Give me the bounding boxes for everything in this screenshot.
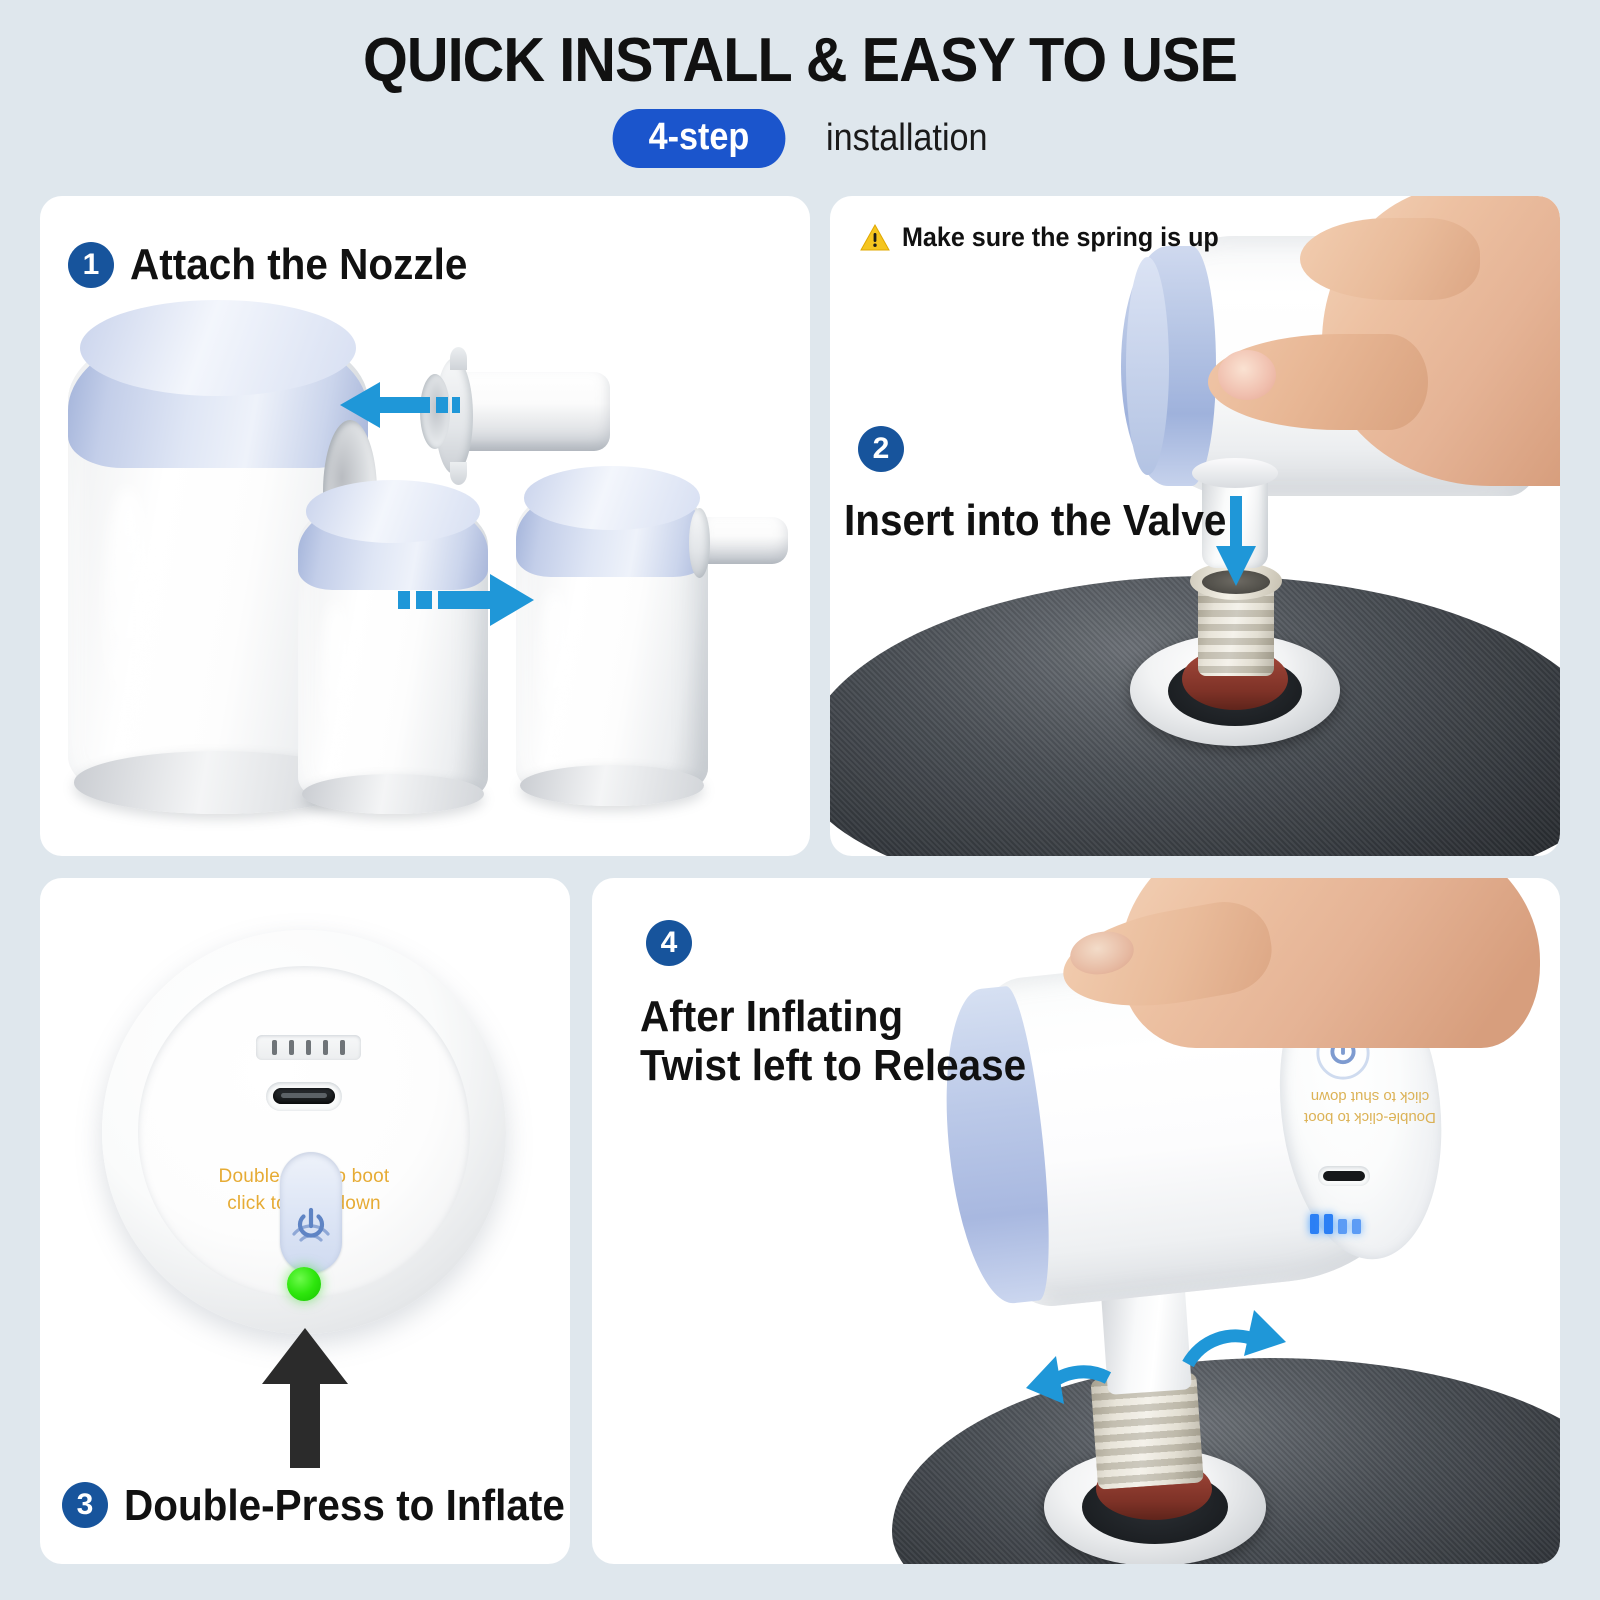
step-3-title: Double-Press to Inflate	[124, 1481, 565, 1530]
power-button[interactable]	[280, 1152, 343, 1273]
infographic-page: QUICK INSTALL & EASY TO USE 4-step insta…	[0, 0, 1600, 1600]
step-panel-1: 1 Attach the Nozzle	[40, 196, 810, 856]
step-panel-4: Double-click to boot click to shut down	[592, 878, 1560, 1564]
blue-led	[1310, 1214, 1319, 1234]
arrow-left-icon	[340, 382, 460, 428]
blue-battery-leds	[1310, 1214, 1361, 1234]
pump-bottom-view: Double-click to boot click to shut down	[102, 930, 506, 1334]
thumb-nail	[1218, 350, 1276, 400]
step-1-heading: 1 Attach the Nozzle	[68, 240, 497, 289]
assembled-pump-cap-top	[306, 480, 481, 542]
held-pump-cap-edge	[1126, 257, 1169, 475]
mounted-nozzle	[680, 512, 788, 574]
steps-grid: 1 Attach the Nozzle	[40, 196, 1560, 1564]
mounted-nozzle-flange	[689, 508, 711, 577]
step-2-badge: 2	[858, 426, 904, 472]
assembled-base	[520, 765, 704, 806]
held-pump-nozzle-flange	[1192, 458, 1278, 488]
battery-bar	[306, 1040, 311, 1055]
step-panel-3: Double-click to boot click to shut down	[40, 878, 570, 1564]
assembled-highlight	[539, 590, 570, 768]
subtitle-label: installation	[826, 117, 988, 160]
subtitle-row: 4-step installation	[0, 109, 1600, 168]
usb-c-opening	[1323, 1171, 1365, 1181]
rotation-arrow-left-icon	[1012, 1348, 1122, 1458]
step-4-scene: Double-click to boot click to shut down	[592, 878, 1560, 1564]
blue-led	[1352, 1219, 1361, 1234]
warning-triangle-icon	[860, 224, 890, 251]
battery-indicator	[256, 1035, 361, 1060]
arrow-right-icon	[398, 574, 534, 626]
blue-led	[1338, 1219, 1347, 1234]
rotation-arrow-right-icon	[1174, 1306, 1294, 1416]
step-2-title: Insert into the Valve	[844, 496, 1226, 545]
nozzle-tab-bottom	[450, 462, 467, 485]
black-arrow-up-icon	[262, 1328, 348, 1468]
step-2-scene: Make sure the spring is up 2 Insert into…	[830, 196, 1560, 856]
blue-led	[1324, 1214, 1333, 1234]
assembled-pump-highlight	[321, 602, 351, 777]
step-1-badge: 1	[68, 242, 114, 288]
nozzle-tab-top	[450, 347, 467, 370]
usb-c-port	[266, 1082, 343, 1111]
usb-c-port	[1318, 1166, 1370, 1186]
step-4-title: After Inflating Twist left to Release	[640, 992, 1026, 1091]
mounted-nozzle-tube	[699, 517, 788, 564]
page-title: QUICK INSTALL & EASY TO USE	[56, 28, 1544, 93]
assembled-cap-top	[524, 466, 701, 530]
index-finger	[1300, 218, 1480, 300]
step-3-heading: 3 Double-Press to Inflate	[62, 1481, 570, 1530]
step-panel-2: Make sure the spring is up 2 Insert into…	[830, 196, 1560, 856]
step-1-title: Attach the Nozzle	[130, 240, 467, 289]
pump-highlight	[104, 487, 152, 756]
assembled-pump-base	[302, 774, 484, 815]
usb-c-opening	[273, 1088, 336, 1104]
battery-bar	[340, 1040, 345, 1055]
pump-cap-top	[80, 300, 356, 396]
battery-bar	[323, 1040, 328, 1055]
assembled-pump-device	[298, 496, 488, 808]
power-icon	[281, 1196, 341, 1256]
nozzle-tube	[454, 372, 610, 451]
device-instruction-label-rotated: Double-click to boot click to shut down	[1280, 1086, 1460, 1128]
warning-note: Make sure the spring is up	[860, 222, 1243, 253]
header: QUICK INSTALL & EASY TO USE 4-step insta…	[0, 0, 1600, 168]
battery-bar	[272, 1040, 277, 1055]
step-3-badge: 3	[62, 1482, 108, 1528]
battery-bar	[289, 1040, 294, 1055]
warning-text: Make sure the spring is up	[902, 222, 1219, 253]
step-count-badge: 4-step	[613, 109, 786, 168]
step-4-badge: 4	[646, 920, 692, 966]
green-led-indicator	[287, 1267, 321, 1301]
